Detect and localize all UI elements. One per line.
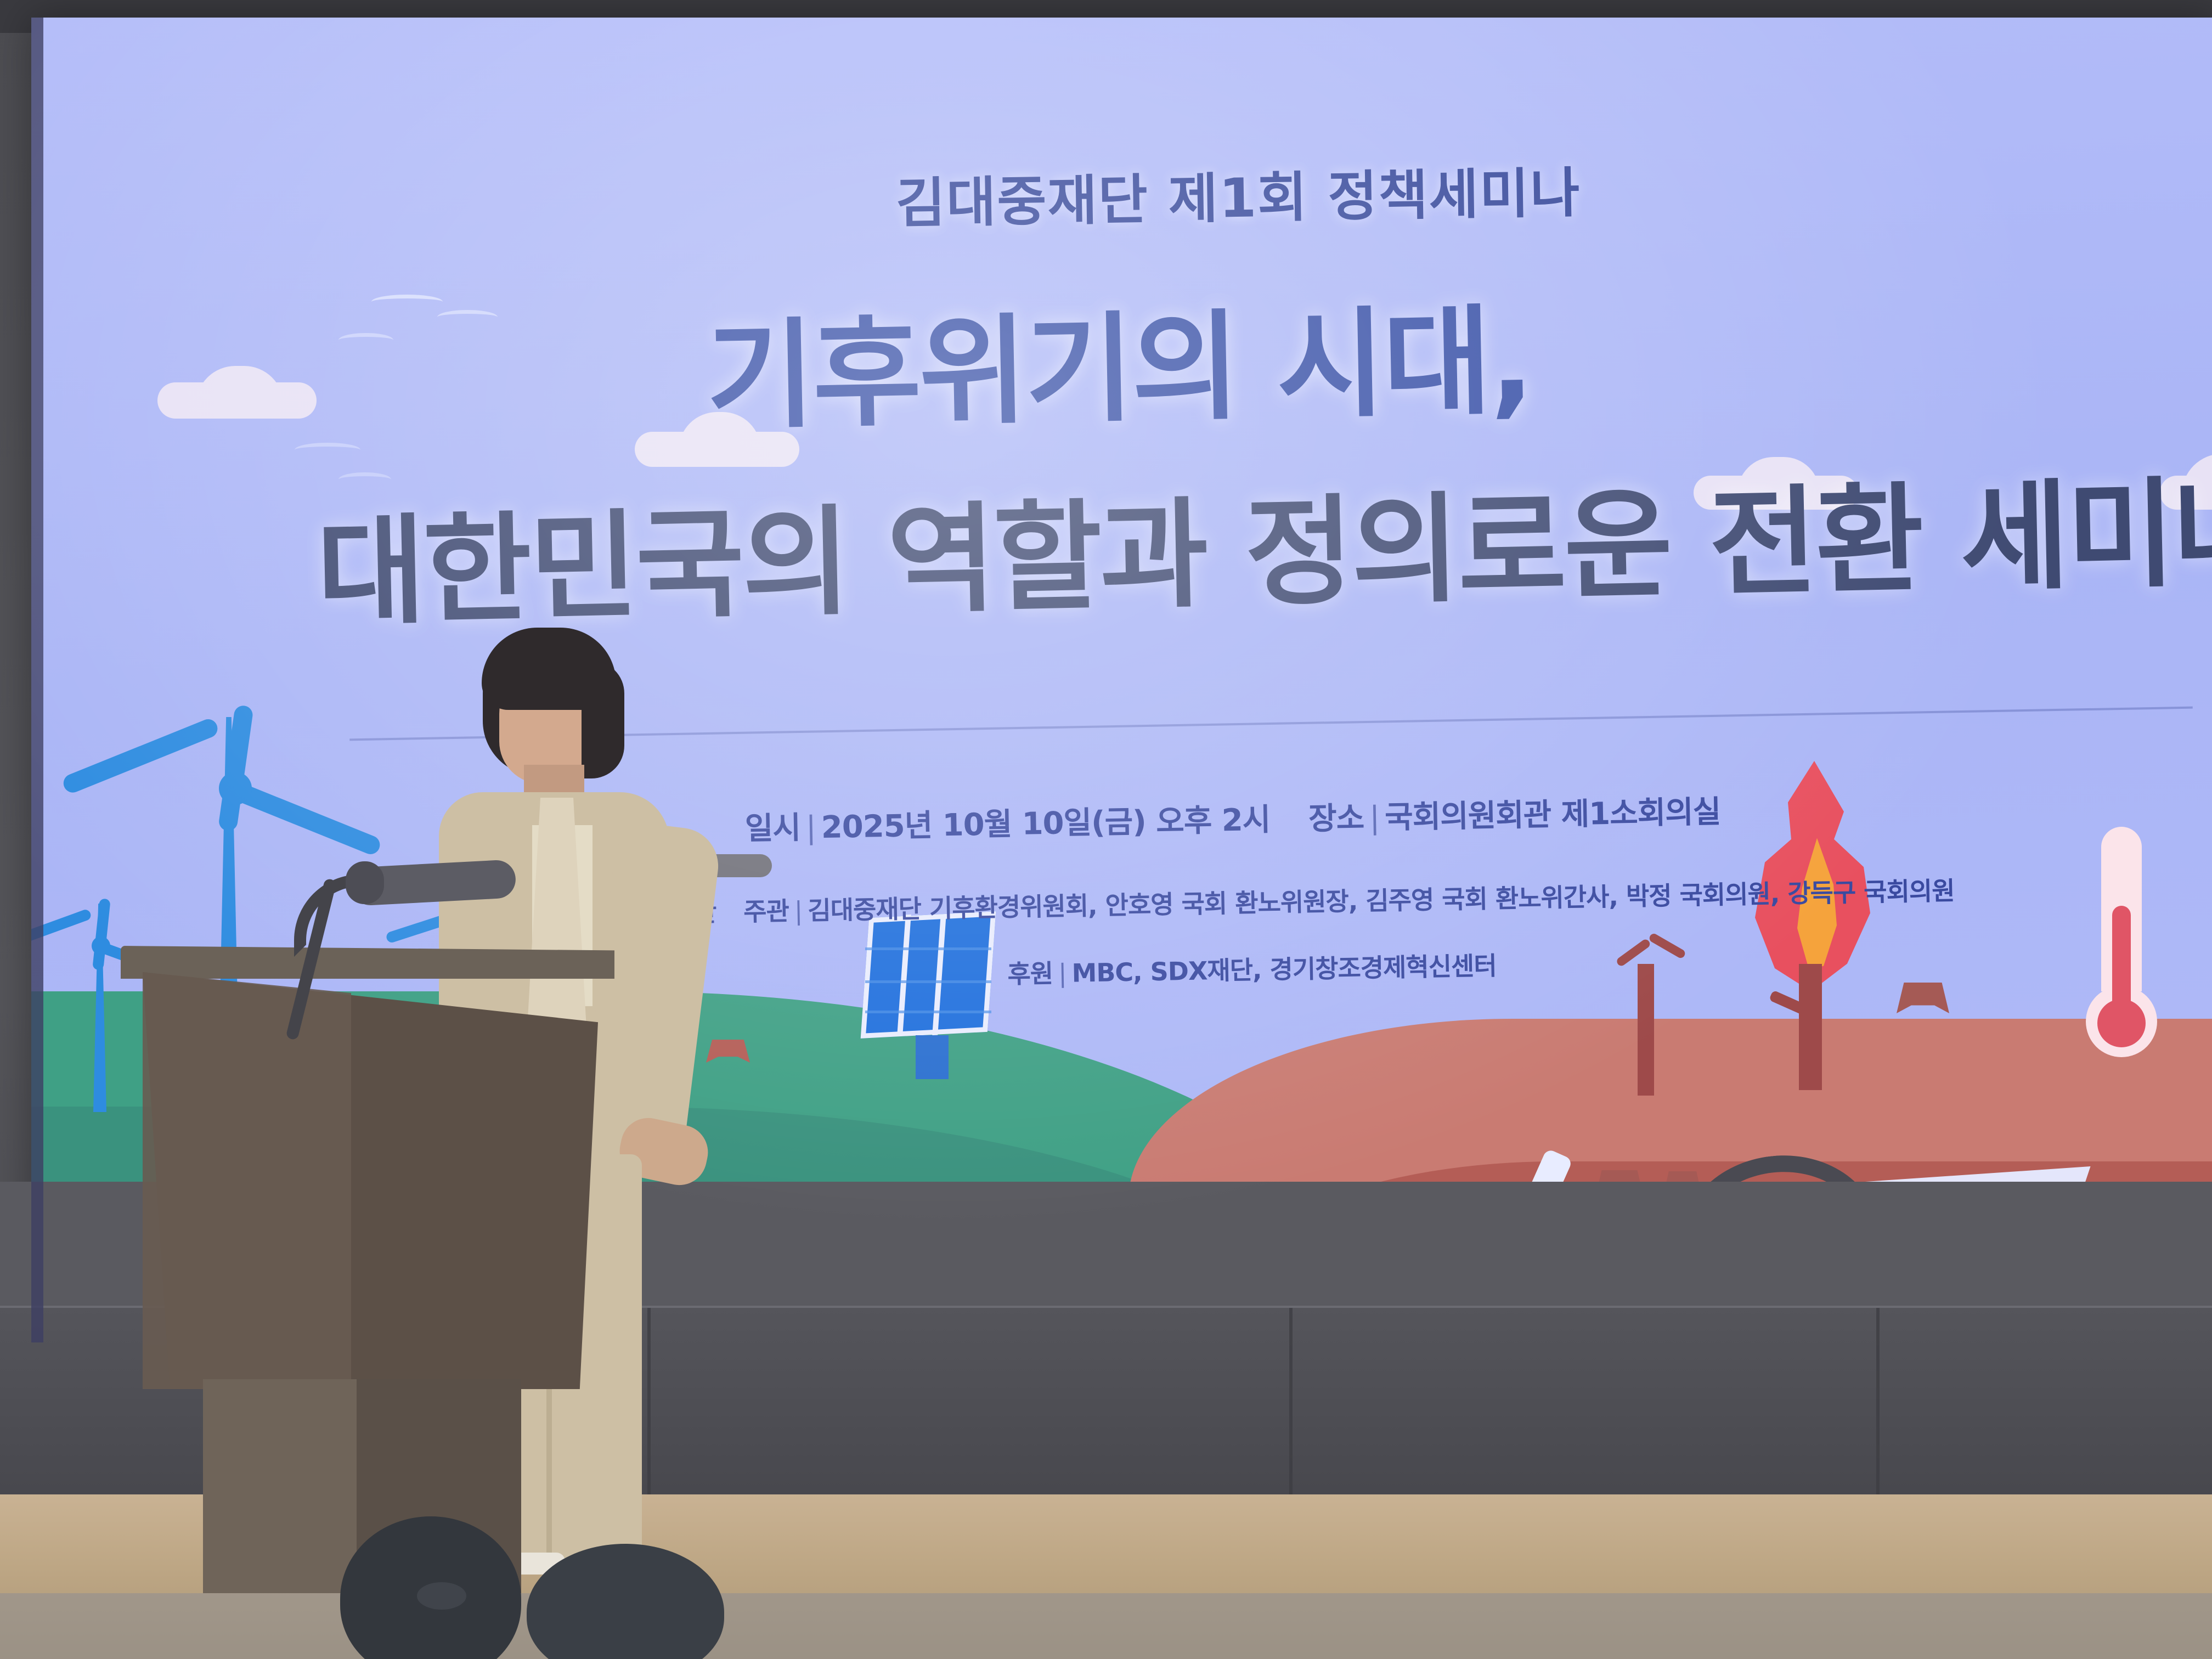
sep-icon: |: [1369, 800, 1380, 836]
slide-meta-datetime: 일시|2025년 10월 10일(금) 오후 2시장소|국회의원회관 제1소회의…: [711, 786, 1754, 849]
slide-kicker: 김대중재단 제1회 정책세미나: [716, 146, 1760, 241]
sponsor-label: 후원: [1007, 958, 1053, 989]
when-value: 2025년 10월 10일(금) 오후 2시: [821, 802, 1271, 845]
sponsor-value: MBC, SDX재단, 경기창조경제혁신센터: [1071, 951, 1497, 988]
screen-left-edge: [31, 18, 43, 1342]
audience-head-highlight: [417, 1582, 466, 1610]
microphone: [241, 842, 472, 1039]
organizer-label: 주관: [743, 896, 789, 927]
floor-shadow: [0, 1593, 2212, 1659]
when-label: 일시: [744, 810, 800, 847]
sep-icon: |: [794, 896, 802, 926]
organizer-value: 김대중재단 기후환경위원회, 안호영 국회 환노위원장, 김주영 국회 환노위간…: [808, 876, 1955, 925]
lectern: [121, 946, 614, 1593]
slide-meta-sponsors: 후원|MBC, SDX재단, 경기창조경제혁신센터: [580, 939, 1925, 998]
sep-icon: |: [805, 810, 816, 845]
presenter-hair-side: [582, 661, 624, 778]
slide-title-line-1: 기후위기의 시대,: [704, 259, 1860, 452]
where-value: 국회의원회관 제1소회의실: [1385, 794, 1721, 836]
where-label: 장소: [1308, 800, 1364, 837]
microphone-windscreen: [346, 861, 384, 904]
photo-stage: 김대중재단 제1회 정책세미나 기후위기의 시대, 대한민국의 역할과 정의로운…: [0, 0, 2212, 1659]
sep-icon: |: [1058, 958, 1066, 988]
slide-title-line-2: 대한민국의 역할과 정의로운 전환 세미나: [315, 436, 2212, 647]
